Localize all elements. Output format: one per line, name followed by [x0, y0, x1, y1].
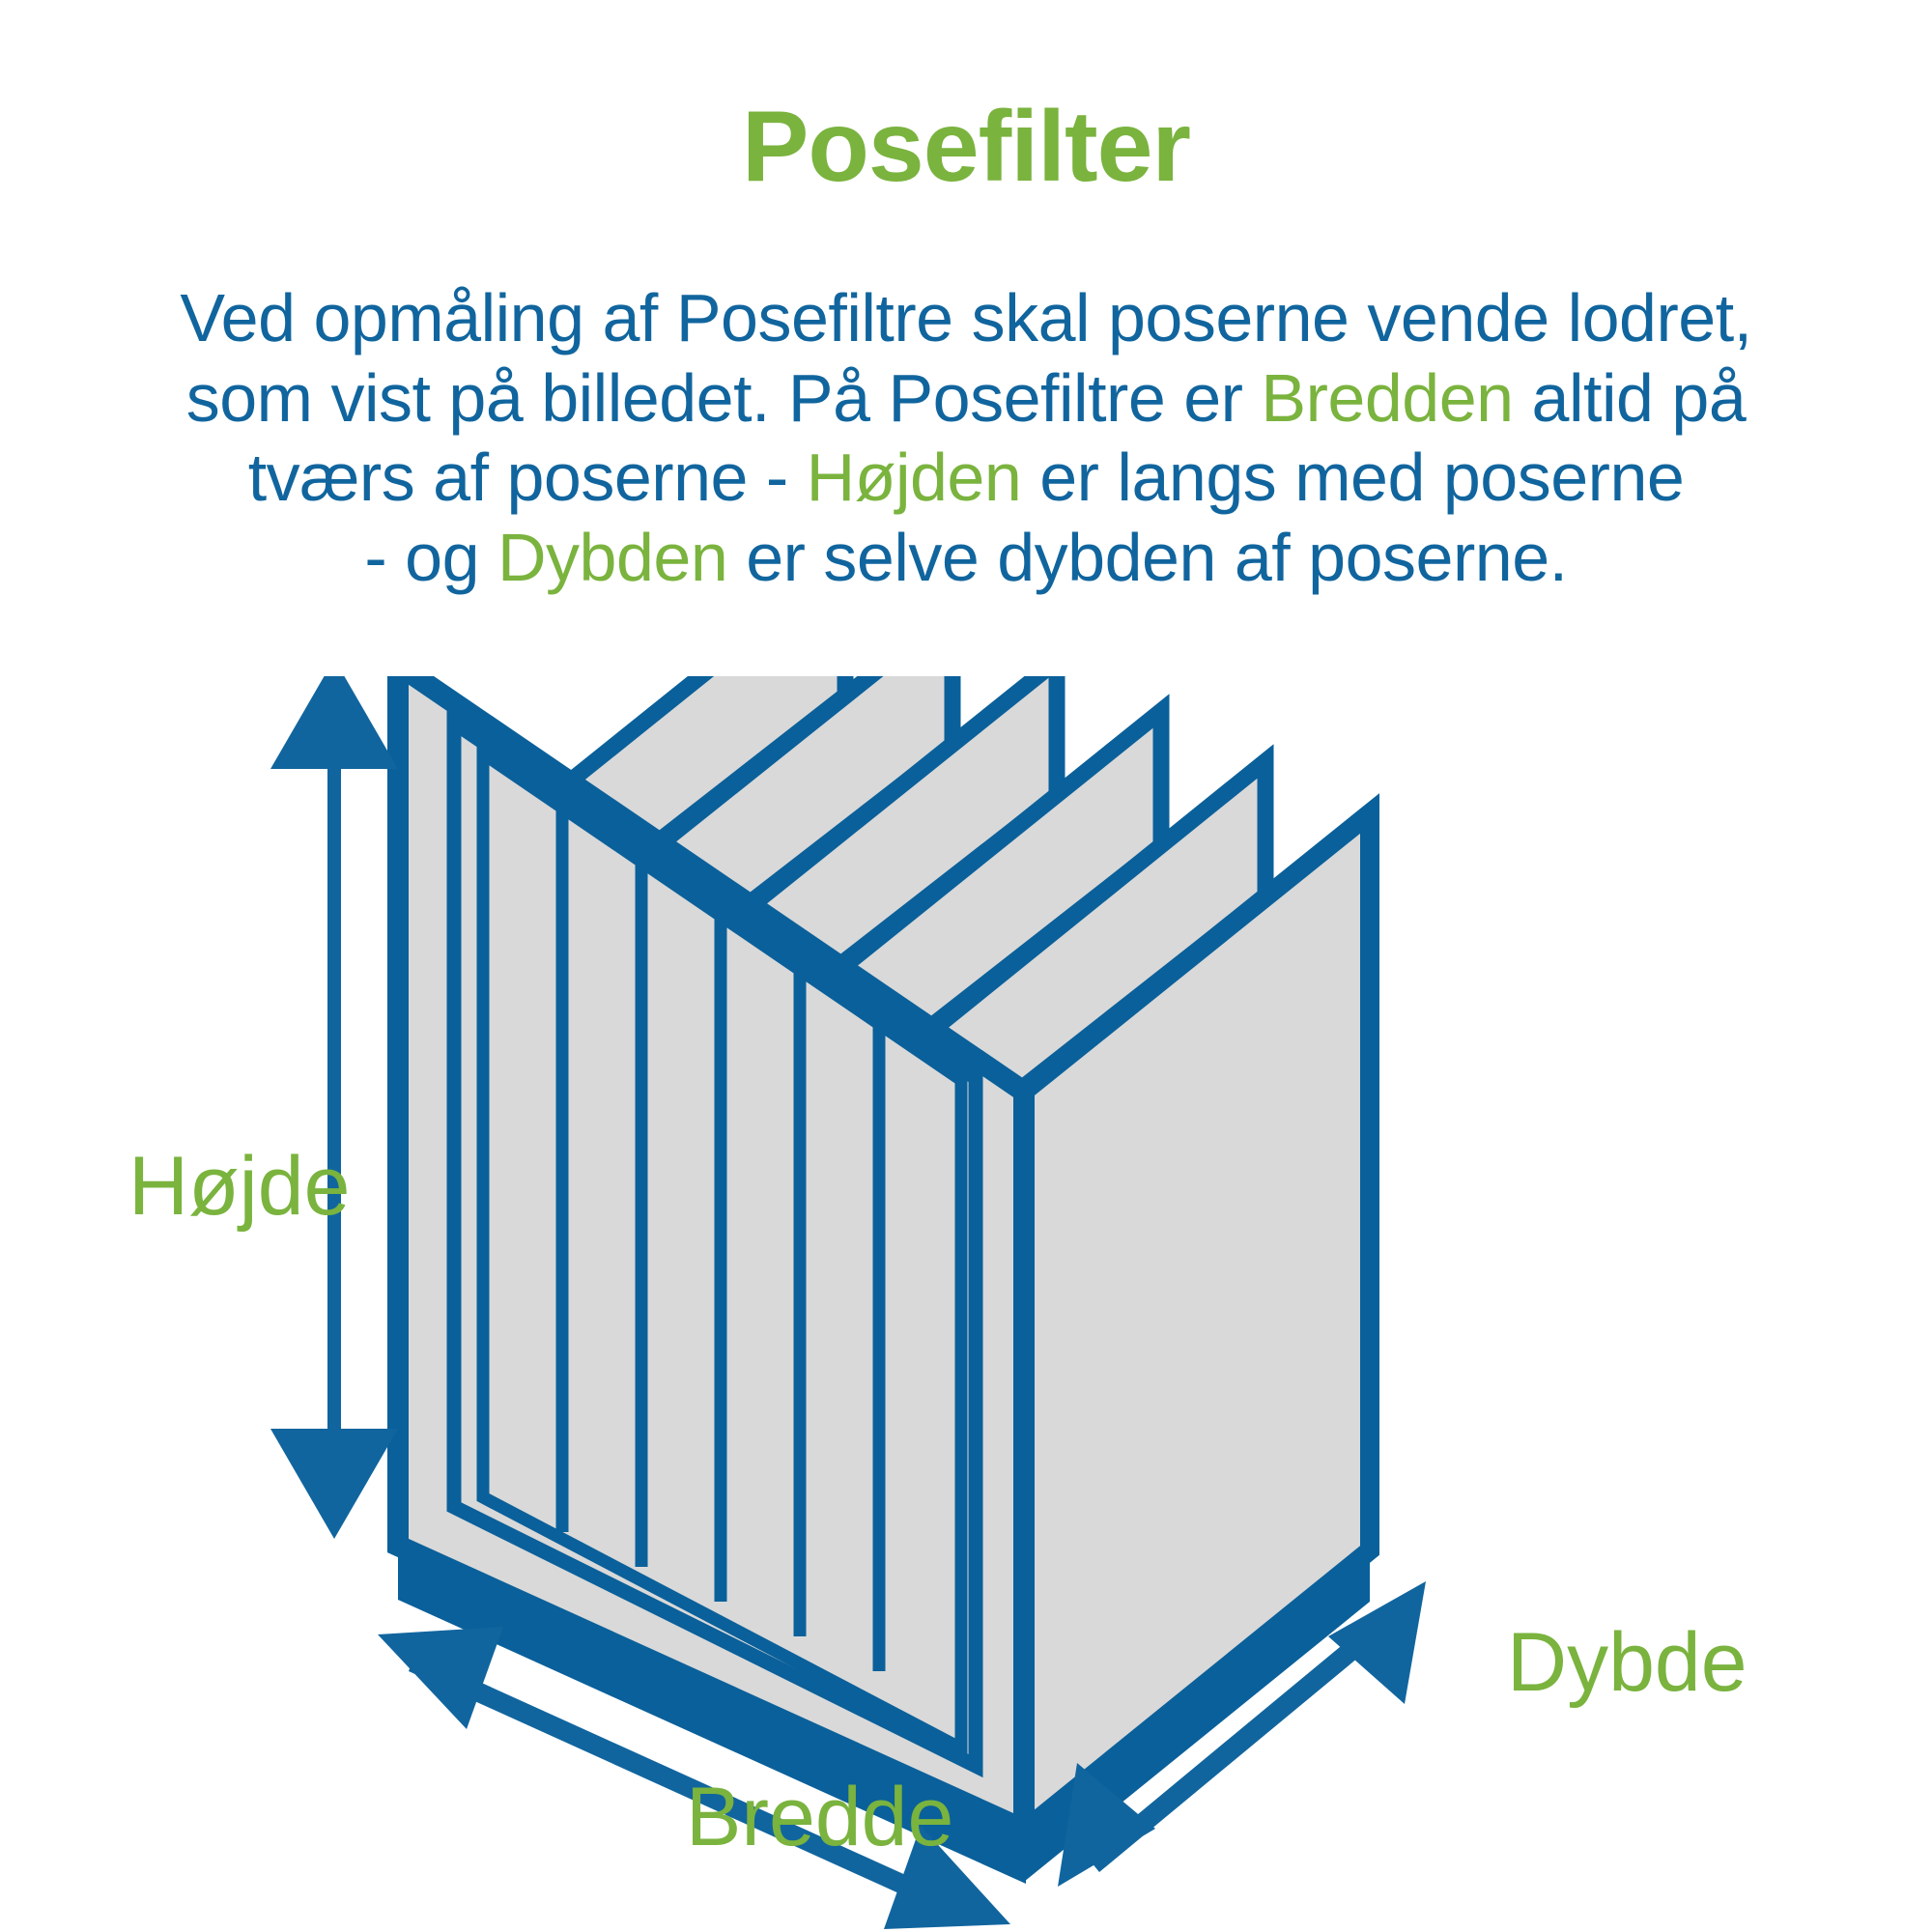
filter-diagram	[0, 676, 1932, 1932]
width-label: Bredde	[686, 1776, 953, 1859]
poster-root: Posefilter Ved opmåling af Posefiltre sk…	[0, 0, 1932, 1932]
intro-highlight-dybden: Dybden	[497, 520, 727, 595]
height-label: Højde	[128, 1145, 350, 1228]
intro-line4-b: er selve dybden af poserne.	[727, 520, 1567, 595]
intro-line3-b: er langs med poserne	[1021, 440, 1684, 515]
page-title: Posefilter	[0, 95, 1932, 200]
intro-highlight-bredden: Bredden	[1261, 360, 1513, 436]
intro-paragraph: Ved opmåling af Posefiltre skal poserne …	[68, 278, 1864, 597]
height-arrow	[270, 676, 398, 1539]
intro-line4-a: - og	[364, 520, 497, 595]
intro-line2-a: som vist på billedet. På Posefiltre er	[186, 360, 1262, 436]
intro-line2-b: altid på	[1514, 360, 1747, 436]
depth-label: Dybde	[1507, 1621, 1747, 1704]
intro-line3-a: tværs af poserne -	[248, 440, 807, 515]
intro-line1: Ved opmåling af Posefiltre skal poserne …	[180, 280, 1751, 355]
intro-highlight-hojden: Højden	[807, 440, 1022, 515]
